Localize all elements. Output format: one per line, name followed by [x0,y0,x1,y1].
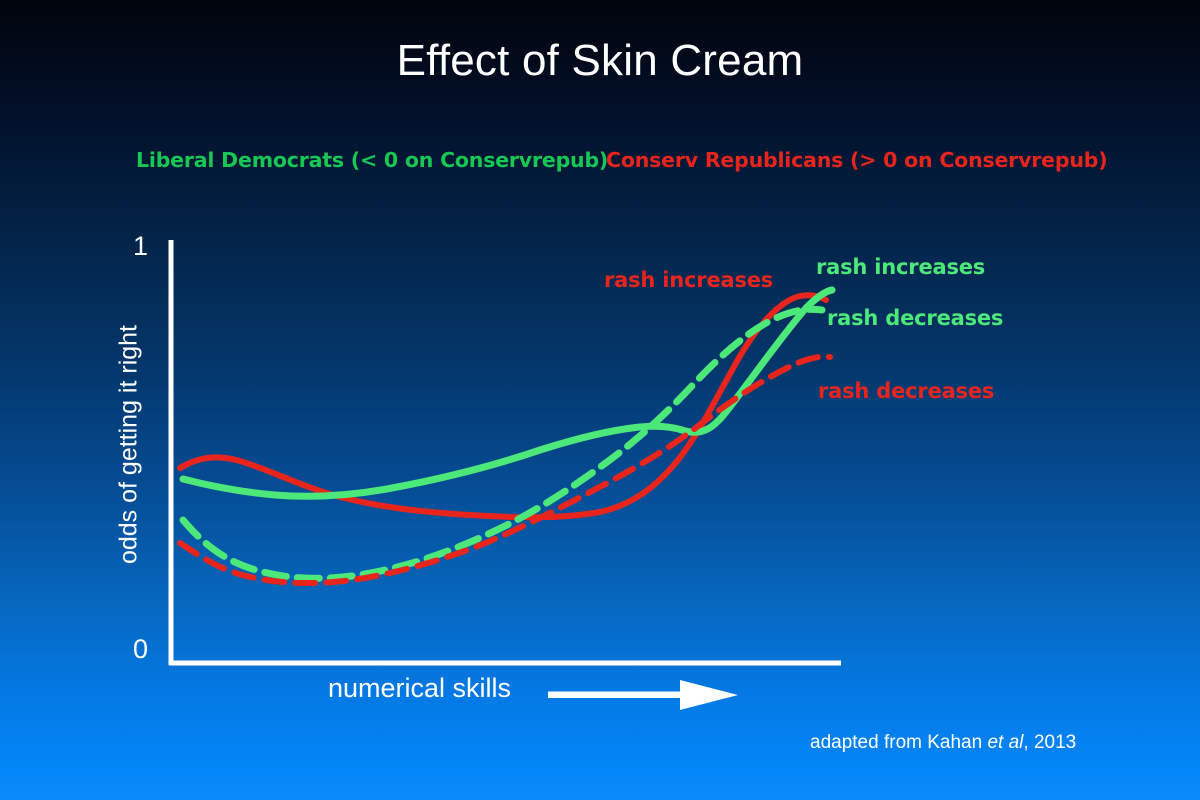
series-democrat-decreases [183,309,822,578]
slide-canvas: Effect of Skin Cream Liberal Democrats (… [0,0,1200,800]
y-axis-title: odds of getting it right [115,280,144,610]
right-arrow-icon [548,678,738,712]
source-credit: adapted from Kahan et al, 2013 [810,732,1076,754]
y-axis-tick-min: 0 [108,634,148,665]
annotation-green-rash-decreases: rash decreases [827,306,1003,330]
series-democrat-increases [183,290,832,496]
annotation-red-rash-decreases: rash decreases [818,379,994,403]
credit-prefix: adapted from Kahan [810,732,987,753]
annotation-red-rash-increases: rash increases [604,268,773,292]
series-republican-decreases [180,357,830,583]
x-axis-title: numerical skills [328,673,511,704]
y-axis-tick-max: 1 [108,231,148,262]
annotation-green-rash-increases: rash increases [816,255,985,279]
credit-suffix: , 2013 [1023,732,1076,753]
credit-italic: et al [987,732,1023,753]
